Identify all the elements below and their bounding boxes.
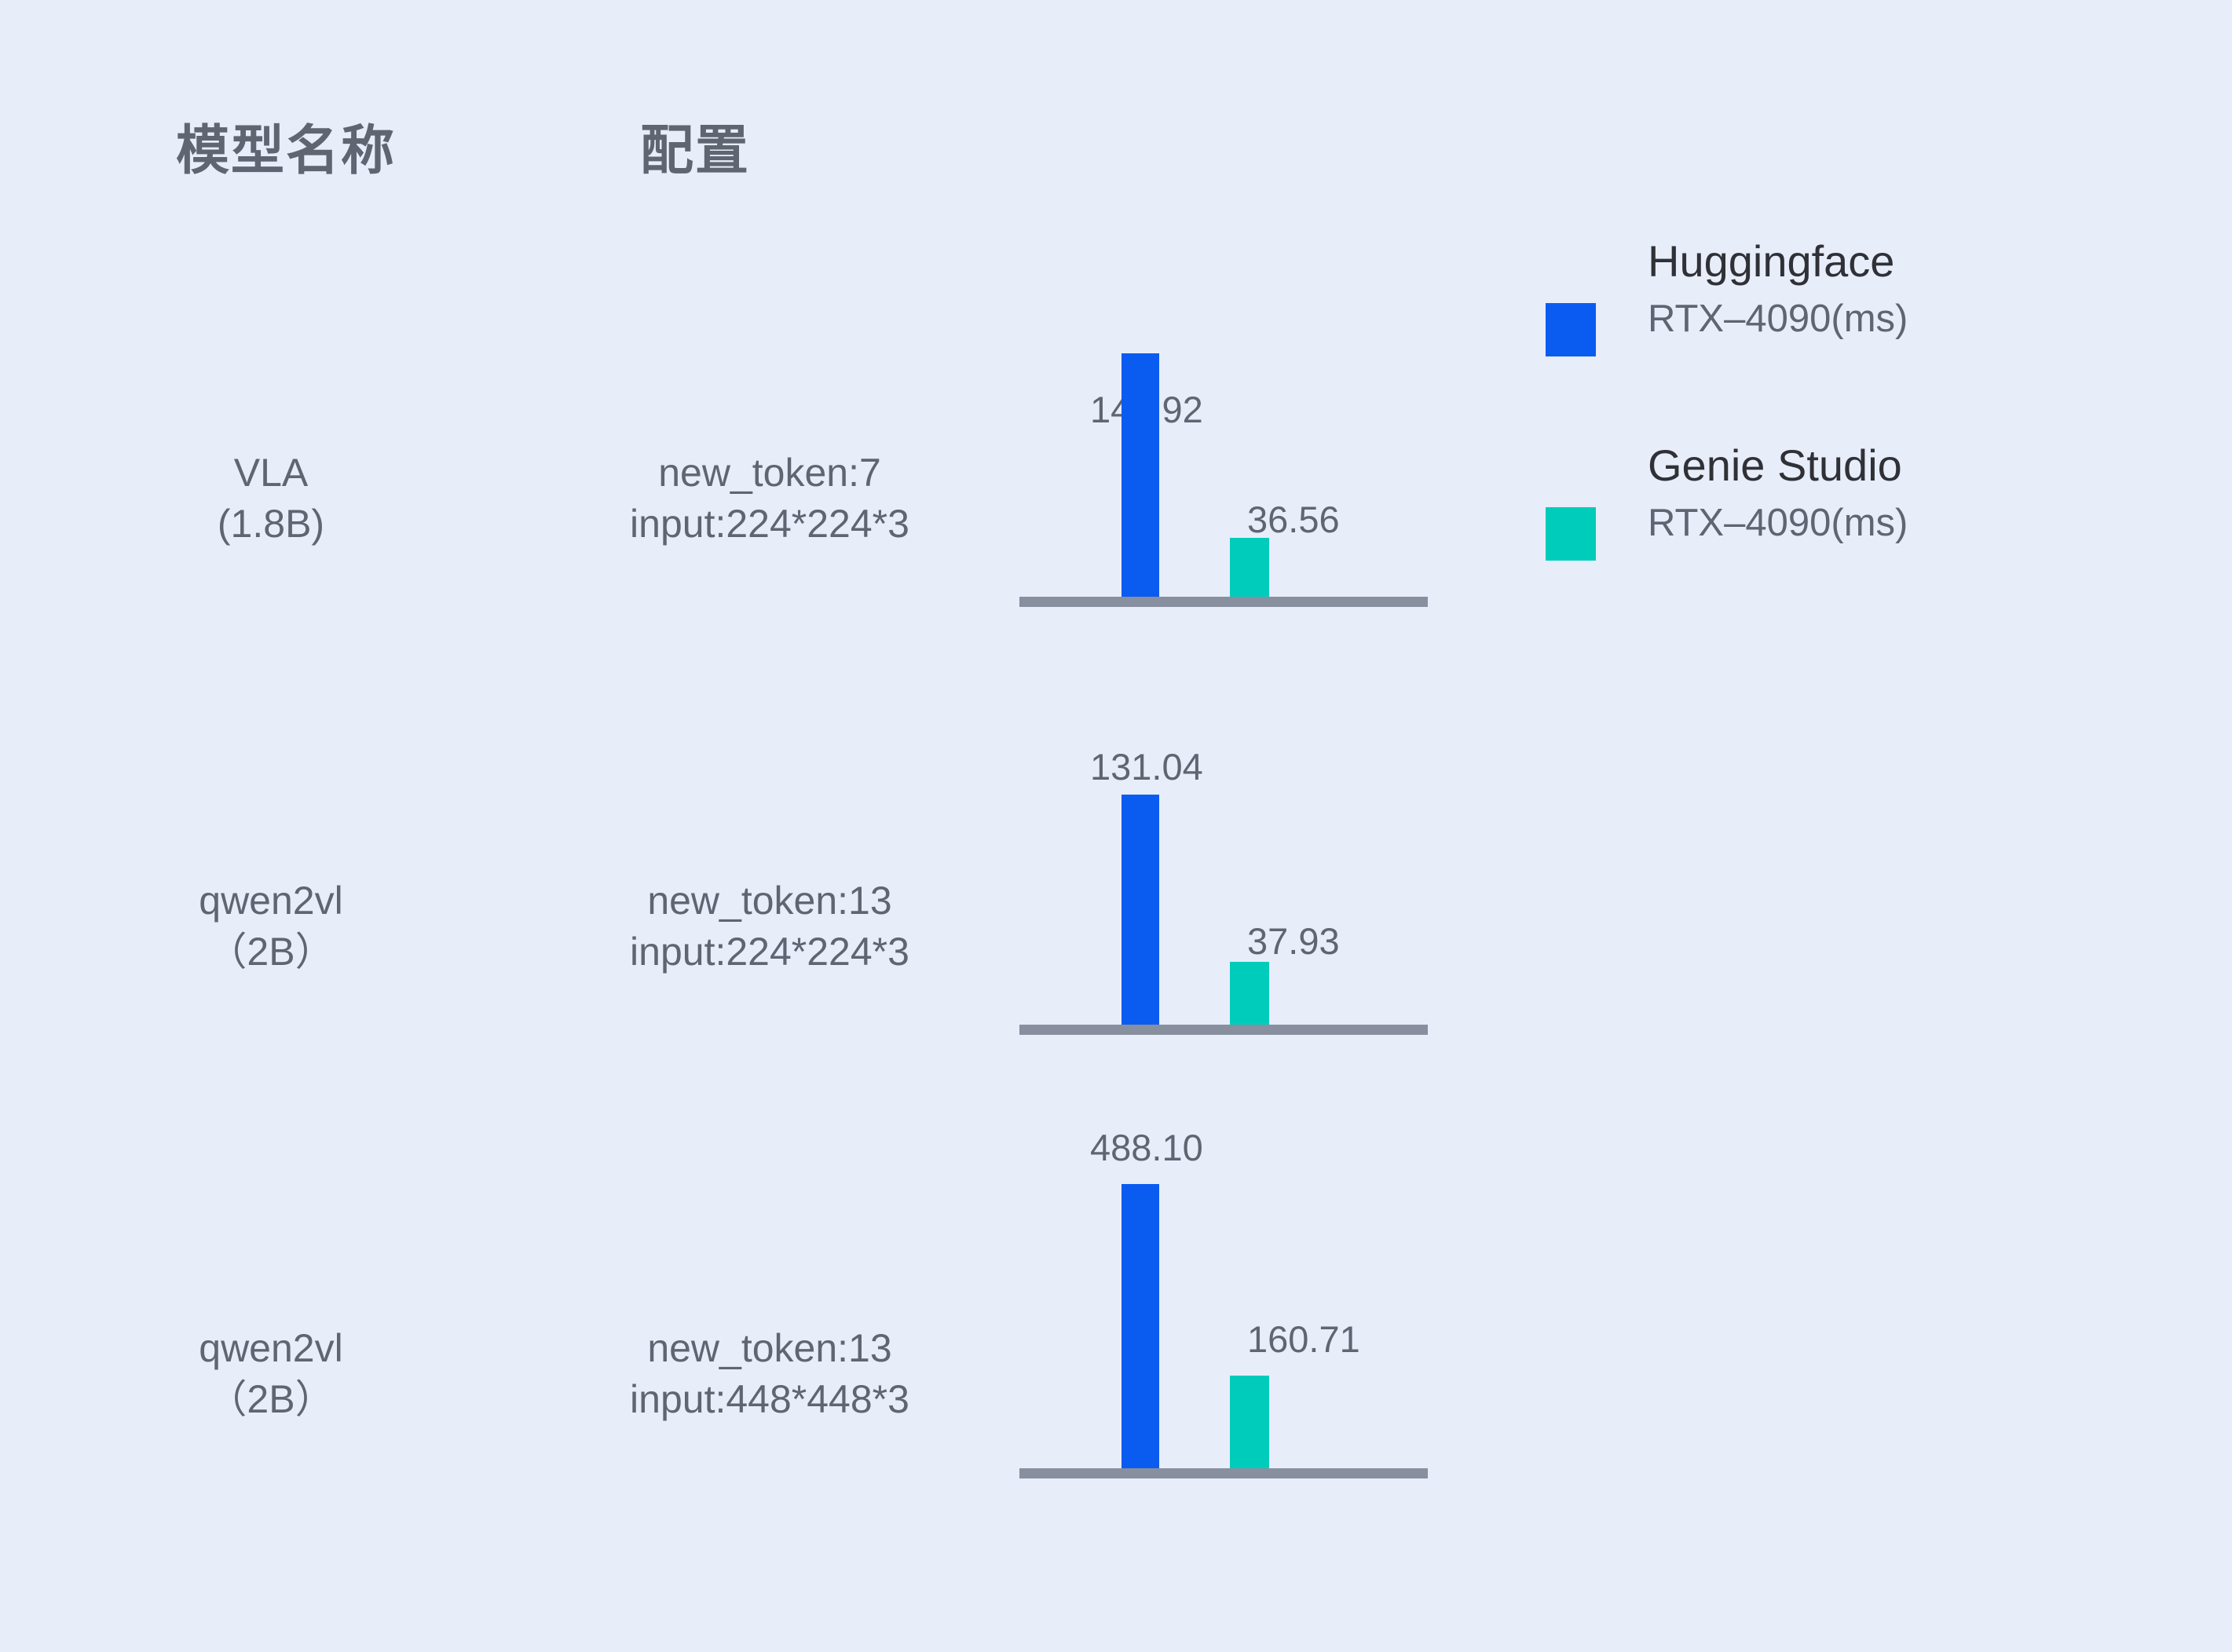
bar-huggingface[interactable] <box>1121 353 1159 597</box>
row-model-name: qwen2vl <box>149 875 393 927</box>
legend-label-name: Genie Studio <box>1648 440 1908 492</box>
legend-item-huggingface[interactable]: Huggingface RTX–4090(ms) <box>1546 236 2190 440</box>
row-config-input: input:224*224*3 <box>479 927 1060 978</box>
row-config-cell: new_token:7 input:224*224*3 <box>479 448 1060 550</box>
bar-value-huggingface: 488.10 <box>1090 1129 1203 1166</box>
row-plot: 141.92 36.56 <box>1019 236 1428 663</box>
header-model-name: 模型名称 <box>176 124 396 177</box>
bar-genie-studio[interactable] <box>1230 1376 1269 1472</box>
row-model-size: (1.8B) <box>149 499 393 550</box>
table-row: qwen2vl （2B） new_token:13 input:448*448*… <box>0 1091 2232 1531</box>
bar-value-genie: 160.71 <box>1247 1321 1360 1358</box>
row-model-cell: VLA (1.8B) <box>149 448 393 550</box>
row-model-size: （2B） <box>149 1374 393 1425</box>
chart-legend: Huggingface RTX–4090(ms) Genie Studio RT… <box>1546 236 2190 644</box>
axis-baseline <box>1019 1468 1428 1478</box>
legend-label-device: RTX–4090(ms) <box>1648 295 1908 343</box>
row-model-size: （2B） <box>149 927 393 978</box>
legend-text-block: Genie Studio RTX–4090(ms) <box>1648 440 1908 547</box>
row-model-cell: qwen2vl （2B） <box>149 875 393 978</box>
row-config-cell: new_token:13 input:448*448*3 <box>479 1323 1060 1425</box>
row-plot: 488.10 160.71 <box>1019 1091 1428 1531</box>
bar-huggingface[interactable] <box>1121 1184 1159 1472</box>
legend-swatch-icon <box>1546 507 1596 561</box>
bar-value-genie: 37.93 <box>1247 923 1340 959</box>
legend-label-name: Huggingface <box>1648 236 1908 287</box>
row-config-input: input:448*448*3 <box>479 1374 1060 1425</box>
row-model-name: qwen2vl <box>149 1323 393 1374</box>
bar-genie-studio[interactable] <box>1230 538 1269 597</box>
row-model-name: VLA <box>149 448 393 499</box>
row-config-token: new_token:7 <box>479 448 1060 499</box>
column-headers: 模型名称 配置 <box>0 124 2232 218</box>
legend-label-device: RTX–4090(ms) <box>1648 499 1908 547</box>
bar-genie-studio[interactable] <box>1230 962 1269 1025</box>
bar-huggingface[interactable] <box>1121 795 1159 1025</box>
row-config-token: new_token:13 <box>479 1323 1060 1374</box>
row-config-token: new_token:13 <box>479 875 1060 927</box>
row-config-cell: new_token:13 input:224*224*3 <box>479 875 1060 978</box>
bar-value-huggingface: 131.04 <box>1090 748 1203 785</box>
axis-baseline <box>1019 597 1428 607</box>
legend-swatch-icon <box>1546 303 1596 356</box>
bar-value-genie: 36.56 <box>1247 501 1340 538</box>
row-model-cell: qwen2vl （2B） <box>149 1323 393 1425</box>
row-config-input: input:224*224*3 <box>479 499 1060 550</box>
legend-item-genie-studio[interactable]: Genie Studio RTX–4090(ms) <box>1546 440 2190 644</box>
axis-baseline <box>1019 1025 1428 1035</box>
row-plot: 131.04 37.93 <box>1019 663 1428 1091</box>
legend-text-block: Huggingface RTX–4090(ms) <box>1648 236 1908 343</box>
header-config: 配置 <box>640 124 750 177</box>
table-row: qwen2vl （2B） new_token:13 input:224*224*… <box>0 663 2232 1091</box>
